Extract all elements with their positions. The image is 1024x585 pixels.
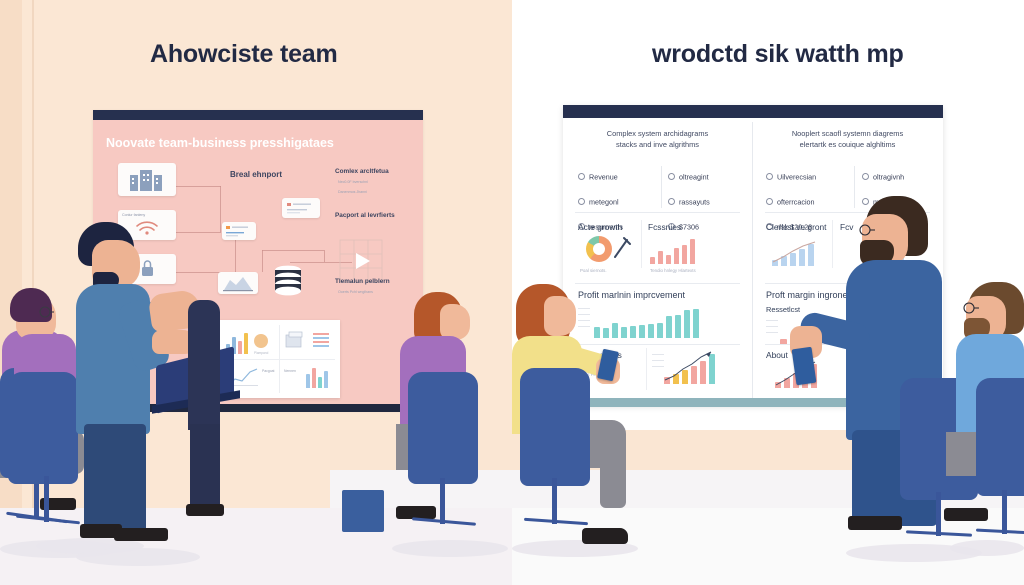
radio-icon[interactable] [668,173,675,180]
seated-lblue-shoe [944,508,988,521]
chair-center-1-stem [440,478,445,524]
database-node [268,262,308,302]
mini-column-chart [306,366,328,388]
chart-node [218,272,258,294]
connector-5 [235,240,236,273]
pen-tool-icon [612,236,632,260]
connector-2 [220,186,221,232]
clerlcst-title: Clerlcst ve gront [766,222,827,232]
diagram-label-3: Tlemalun pelblern [335,278,390,285]
mini-card-horizontal-divider [223,359,335,360]
connector-8 [324,250,325,262]
right-col1-inner-divider [661,166,662,208]
diagram-subline-2: Ooerts Pchl wnglhans [338,290,373,294]
right-col2-heading-line1: Nooplert scaofl systemn diagrems [765,128,930,139]
mini-doc-icon [284,331,308,351]
col1-cards-divider [641,220,642,268]
presenter-shoe-right [114,528,168,541]
profit-margin-title: Profit marlnin imprcvement [578,290,685,300]
glasses-icon-right-seated [962,302,988,314]
right-col1-heading: Complex system archidagrams stacks and i… [575,128,740,150]
seated-yellow-shoe [582,528,628,544]
illustration-scene: Ahowciste team wrodctd sik watth mp Noov… [0,0,1024,585]
acte-growth-sub: Poal siernots. [580,268,607,273]
right-col2-heading-line2: elertartk es couique alghltims [765,139,930,150]
option-row[interactable]: Uilverecsian [766,168,816,186]
right-panel-title: wrodctd sik watth mp [652,40,904,69]
diagram-subline-1: Danenmos Jhanni [338,190,367,194]
option-row[interactable]: Revenue [578,168,623,186]
diagram-label-1: Comlex arcltfetua [335,168,389,175]
option-label: $7306 [679,222,699,231]
option-label: Uilverecsian [777,172,816,181]
diagram-label-2: Pacport al levrfierts [335,212,395,219]
radio-icon[interactable] [766,198,773,205]
option-row[interactable]: oltreagint [668,168,710,186]
mini-line-caption: Pacgoat [262,369,274,373]
left-board-top-bar [93,110,423,120]
glasses-icon-right-presenter [858,224,884,236]
chair-right-1-stem [936,492,941,536]
connector-7 [262,250,324,251]
fcssnies-bar-chart [650,236,695,264]
shadow-right-2 [950,540,1024,556]
radio-icon[interactable] [578,198,585,205]
col2-cards-divider [832,220,833,268]
chair-center-1-back [408,372,478,484]
connector-6 [262,250,263,272]
option-label: oltragivnh [873,172,904,181]
chair-right-2-back [976,378,1024,496]
left-slide-heading: Noovate team-business presshigataes [106,136,406,150]
seated-yellow-shin [600,440,626,508]
radio-icon[interactable] [766,173,773,180]
ressetlcst-title: Ressetlcst [766,305,800,314]
option-label: metegonl [589,197,619,206]
right-board-top-bar [563,105,943,118]
mini-column-caption: Nennen [284,369,296,373]
option-row[interactable]: metegonl [578,193,623,211]
diagram-label-0: Breal ehnport [230,170,282,179]
mini-donut-icon [254,334,268,348]
mini-legend-lines [313,333,329,347]
document-icon-a [282,198,320,218]
ressetlcst-axis [766,320,778,338]
acte-growth-title: Acte growth [578,222,622,232]
option-row[interactable]: rassayuts [668,193,710,211]
profit-margin-axis [578,308,590,332]
diagram-subline-0: Nec0.0F bverschnl [338,180,368,184]
profit-margin-bar-chart [594,306,699,338]
right-col2-inner-divider [854,166,855,208]
option-label: rassayuts [679,197,710,206]
radio-icon[interactable] [862,198,869,205]
chair-right-2-stem [1002,490,1007,534]
prov-ualiets-trend-line [662,350,716,386]
assistant-body [188,300,220,430]
mini-bar-caption: Plamparol [254,351,268,355]
database-icon [268,262,308,302]
briefcase[interactable] [342,490,384,532]
assistant-legs [190,424,220,510]
option-row[interactable]: oltragivnh [862,168,910,186]
seated-yellow-head [544,296,576,336]
shadow-presenter [76,548,200,566]
right-col2-heading: Nooplert scaofl systemn diagrems elertar… [765,128,930,150]
chair-center-2-back [520,368,590,486]
chair-left-2-stem [44,476,49,522]
left-mini-dashboard-card: Plamparol Pacgoat Nennen [218,320,340,398]
radio-icon[interactable] [578,173,585,180]
building-node [118,163,176,196]
fcssnies-title: Fcssnies [648,222,681,232]
connector-3 [175,232,221,233]
wifi-node-caption: Conlur fanleny [122,213,145,217]
chair-left-2-back [8,372,78,484]
col1-bottom-divider [646,348,647,390]
seated-auburn-head [440,304,470,340]
glasses-icon [38,306,62,318]
doc-node-b [222,222,256,240]
clerlcst-trend-line [770,238,822,268]
fcssnies-sub: Tendio hnlegy Hlartexts [650,268,696,273]
chair-center-2-stem [552,478,557,524]
option-row[interactable]: ofterrcacion [766,193,816,211]
assistant-shoe [186,504,224,516]
option-label: oltreagint [679,172,709,181]
shadow-center-1 [392,540,508,557]
left-panel-title: Ahowciste team [150,40,338,69]
doc-node-a [282,198,320,218]
right-board-column-divider [752,122,753,398]
area-chart-icon [218,272,258,294]
acte-growth-donut-chart [586,236,612,262]
right-col1-heading-line1: Complex system archidagrams [575,128,740,139]
fcv-title: Fcv [840,222,854,232]
right-presenter-shoe [848,516,902,530]
option-label: ofterrcacion [777,197,815,206]
option-label: Revenue [589,172,618,181]
radio-icon[interactable] [668,198,675,205]
radio-icon[interactable] [862,173,869,180]
connector-1 [175,186,221,187]
right-col1-divider-3 [575,344,740,345]
presenter-trousers [84,424,146,532]
right-col1-divider-2 [575,283,740,284]
right-col1-heading-line2: stacks and inve algrithms [575,139,740,150]
document-icon-b [222,222,256,240]
building-icon [118,163,176,196]
